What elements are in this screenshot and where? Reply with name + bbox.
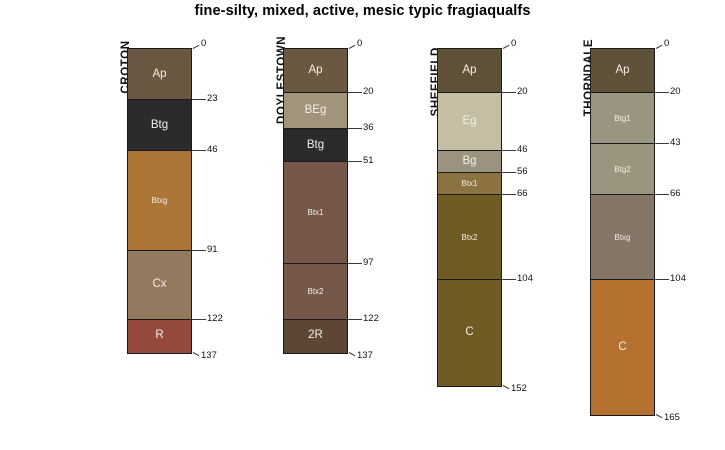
- horizon-label: Bg: [438, 156, 501, 168]
- horizon-label: Btg: [284, 140, 347, 152]
- depth-tick-mark: [348, 263, 362, 264]
- depth-tick-mark: [348, 319, 362, 320]
- depth-tick-leader: [503, 385, 510, 389]
- soil-horizon[interactable]: Ap: [591, 49, 654, 93]
- soil-horizon[interactable]: Eg: [438, 93, 501, 151]
- depth-tick-label: 137: [357, 351, 373, 361]
- soil-profile: DOYLESTOWNApBEgBtgBtx1Btx22R020365197122…: [283, 48, 348, 354]
- horizon-label: Btxg: [128, 197, 191, 205]
- depth-tick-mark: [192, 150, 206, 151]
- depth-tick-label: 46: [207, 145, 218, 155]
- depth-tick-label: 122: [207, 314, 223, 324]
- depth-tick-label: 66: [517, 189, 528, 199]
- soil-horizon[interactable]: Cx: [128, 251, 191, 320]
- soil-horizon[interactable]: Btg: [128, 100, 191, 151]
- profile-column: ApBtg1Btg2BtxgC: [590, 48, 655, 416]
- soil-horizon[interactable]: Btx1: [438, 173, 501, 195]
- depth-tick-label: 0: [511, 39, 516, 49]
- depth-tick-label: 20: [517, 87, 528, 97]
- horizon-label: Ap: [128, 69, 191, 81]
- horizon-label: Eg: [438, 116, 501, 128]
- horizon-label: Ap: [591, 65, 654, 77]
- depth-tick-mark: [502, 172, 516, 173]
- depth-tick-mark: [348, 128, 362, 129]
- depth-tick-mark: [348, 92, 362, 93]
- depth-tick-mark: [502, 279, 516, 280]
- depth-tick-label: 46: [517, 145, 528, 155]
- profile-column: ApEgBgBtx1Btx2C: [437, 48, 502, 387]
- depth-tick-label: 97: [363, 258, 374, 268]
- profile-column: ApBEgBtgBtx1Btx22R: [283, 48, 348, 354]
- soil-horizon[interactable]: Btx2: [284, 264, 347, 319]
- depth-tick-label: 0: [664, 39, 669, 49]
- depth-tick-label: 104: [517, 274, 533, 284]
- depth-tick-label: 104: [670, 274, 686, 284]
- depth-tick-label: 137: [201, 351, 217, 361]
- depth-tick-mark: [655, 279, 669, 280]
- soil-horizon[interactable]: Btg: [284, 129, 347, 162]
- soil-horizon[interactable]: BEg: [284, 93, 347, 128]
- depth-tick-label: 122: [363, 314, 379, 324]
- soil-horizon[interactable]: Btx1: [284, 162, 347, 264]
- depth-tick-leader: [656, 414, 663, 418]
- horizon-label: Ap: [284, 65, 347, 77]
- depth-tick-label: 0: [357, 39, 362, 49]
- soil-horizon[interactable]: Ap: [128, 49, 191, 100]
- soil-horizon[interactable]: Btxg: [591, 195, 654, 279]
- horizon-label: 2R: [284, 330, 347, 342]
- horizon-label: Btx1: [438, 180, 501, 188]
- depth-tick-label: 51: [363, 156, 374, 166]
- depth-tick-mark: [192, 250, 206, 251]
- soil-horizon[interactable]: Ap: [438, 49, 501, 93]
- soil-horizon[interactable]: Btg1: [591, 93, 654, 144]
- depth-tick-label: 20: [363, 87, 374, 97]
- horizon-label: Btx1: [284, 209, 347, 217]
- depth-tick-label: 56: [517, 167, 528, 177]
- depth-tick-label: 66: [670, 189, 681, 199]
- horizon-label: C: [591, 342, 654, 354]
- horizon-label: Btg1: [591, 115, 654, 123]
- soil-horizon[interactable]: 2R: [284, 320, 347, 353]
- depth-tick-mark: [192, 99, 206, 100]
- depth-tick-label: 91: [207, 245, 218, 255]
- soil-horizon[interactable]: Btg2: [591, 144, 654, 195]
- horizon-label: BEg: [284, 105, 347, 117]
- horizon-label: Btx2: [438, 234, 501, 242]
- horizon-label: Btx2: [284, 288, 347, 296]
- profile-column: ApBtgBtxgCxR: [127, 48, 192, 354]
- horizon-label: Btxg: [591, 234, 654, 242]
- depth-tick-mark: [655, 194, 669, 195]
- soil-horizon[interactable]: Bg: [438, 151, 501, 173]
- depth-tick-mark: [655, 143, 669, 144]
- soil-profile-plot: fine-silty, mixed, active, mesic typic f…: [0, 0, 725, 450]
- depth-tick-label: 165: [664, 413, 680, 423]
- depth-tick-label: 36: [363, 123, 374, 133]
- soil-profile: SHEFFIELDApEgBgBtx1Btx2C020465666104152: [437, 48, 502, 387]
- depth-tick-leader: [349, 352, 356, 356]
- horizon-label: R: [128, 330, 191, 342]
- depth-tick-label: 43: [670, 138, 681, 148]
- depth-tick-mark: [655, 92, 669, 93]
- soil-profile: THORNDALEApBtg1Btg2BtxgC0204366104165: [590, 48, 655, 416]
- horizon-label: Btg2: [591, 166, 654, 174]
- depth-tick-mark: [192, 319, 206, 320]
- depth-tick-leader: [349, 45, 356, 49]
- soil-horizon[interactable]: Btxg: [128, 151, 191, 251]
- depth-tick-mark: [502, 194, 516, 195]
- depth-tick-leader: [193, 45, 200, 49]
- soil-horizon[interactable]: Ap: [284, 49, 347, 93]
- horizon-label: C: [438, 327, 501, 339]
- depth-tick-label: 20: [670, 87, 681, 97]
- depth-tick-label: 23: [207, 94, 218, 104]
- depth-tick-leader: [503, 45, 510, 49]
- depth-tick-label: 0: [201, 39, 206, 49]
- soil-horizon[interactable]: R: [128, 320, 191, 353]
- horizon-label: Ap: [438, 65, 501, 77]
- depth-tick-label: 152: [511, 384, 527, 394]
- depth-tick-mark: [348, 161, 362, 162]
- soil-horizon[interactable]: C: [438, 280, 501, 386]
- soil-horizon[interactable]: Btx2: [438, 195, 501, 279]
- page-title: fine-silty, mixed, active, mesic typic f…: [0, 3, 725, 19]
- soil-horizon[interactable]: C: [591, 280, 654, 415]
- soil-profile: CROTONApBtgBtxgCxR0234691122137: [127, 48, 192, 354]
- depth-tick-mark: [502, 150, 516, 151]
- horizon-label: Btg: [128, 120, 191, 132]
- depth-tick-mark: [502, 92, 516, 93]
- depth-tick-leader: [193, 352, 200, 356]
- depth-tick-leader: [656, 45, 663, 49]
- horizon-label: Cx: [128, 279, 191, 291]
